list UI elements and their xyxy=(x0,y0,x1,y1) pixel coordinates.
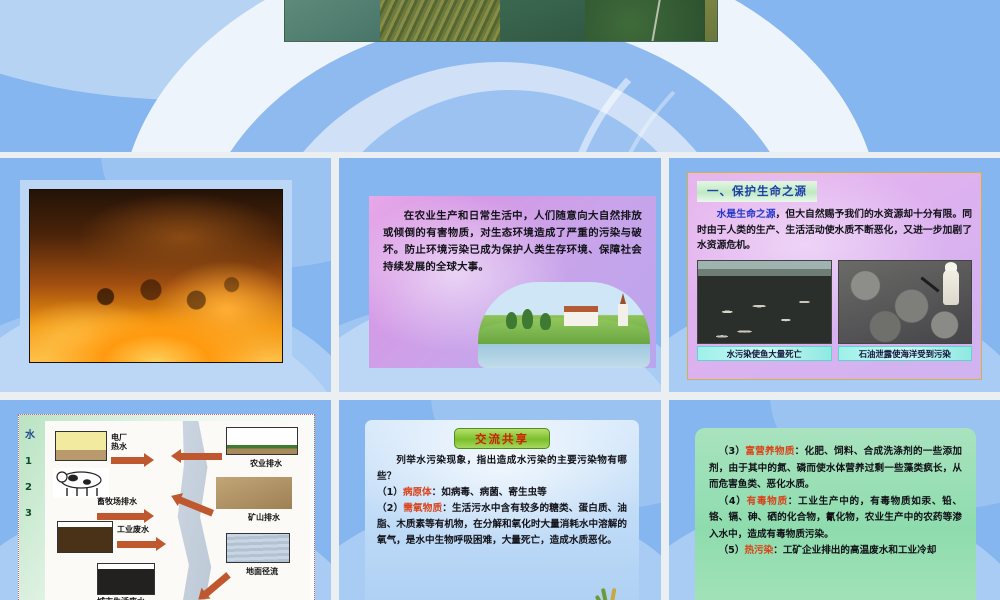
village-house xyxy=(564,306,598,326)
village-landscape-image xyxy=(478,282,650,368)
pollutant-item-5: （5）热污染：工矿企业排出的高温废水和工业冷却 xyxy=(709,543,962,560)
photo-caption: 水污染使鱼大量死亡 xyxy=(697,346,832,361)
hero-photo-field xyxy=(705,0,718,42)
arrow-industrial xyxy=(117,541,157,548)
share-item-1-keyword: 病原体 xyxy=(403,487,432,498)
village-water xyxy=(478,344,650,368)
slide-grid: 在农业生产和日常生活中，人们随意向大自然排放或倾倒的有害物质，对生态环境造成了严… xyxy=(0,158,1000,600)
slide-protect-water-source[interactable]: 一、保护生命之源 水是生命之源，但大自然赐予我们的水资源却十分有限。同时由于人类… xyxy=(669,158,1000,392)
shovel-icon xyxy=(920,277,939,293)
share-item-2-no: （2） xyxy=(377,503,403,514)
river-shape xyxy=(162,421,224,600)
arrow-agriculture xyxy=(180,453,222,460)
village-tree xyxy=(540,313,551,330)
section-title: 一、保护生命之源 xyxy=(697,181,817,202)
photo-caption: 石油泄露使海洋受到污染 xyxy=(838,346,973,361)
cleanup-worker xyxy=(943,269,959,305)
intro-paragraph: 在农业生产和日常生活中，人们随意向大自然排放或倾倒的有害物质，对生态环境造成了严… xyxy=(383,208,642,275)
hero-aerial-photo xyxy=(284,0,718,42)
fire-photo-frame xyxy=(20,180,292,372)
share-item-1-text: ：如病毒、病菌、寄生虫等 xyxy=(432,487,547,498)
pollutant-5-keyword: 热污染 xyxy=(744,545,773,556)
diagram-hidden-column: 水 1 2 3 xyxy=(25,423,43,527)
share-question: 列举水污染现象，指出造成水污染的主要污染物有哪些？ xyxy=(377,453,627,485)
water-source-highlight: 水是生命之源 xyxy=(717,209,776,220)
hero-photo-vegetation xyxy=(380,0,500,42)
share-card: 交流共享 列举水污染现象，指出造成水污染的主要污染物有哪些？ （1）病原体：如病… xyxy=(365,420,639,600)
hidden-col-0: 水 xyxy=(25,423,43,449)
share-body: 列举水污染现象，指出造成水污染的主要污染物有哪些？ （1）病原体：如病毒、病菌、… xyxy=(377,453,627,549)
pollutants-body: （3）富营养物质：化肥、饲料、合成洗涤剂的一些添加剂，由于其中的氮、磷而使水体营… xyxy=(709,444,962,560)
pollutants-green-card: （3）富营养物质：化肥、饲料、合成洗涤剂的一些添加剂，由于其中的氮、磷而使水体营… xyxy=(695,428,976,600)
hidden-col-1: 1 xyxy=(25,449,43,475)
farmland-icon xyxy=(226,427,298,455)
hero-slide[interactable] xyxy=(0,0,1000,152)
water-source-card: 一、保护生命之源 水是生命之源，但大自然赐予我们的水资源却十分有限。同时由于人类… xyxy=(687,172,982,380)
village-tree xyxy=(506,312,517,329)
diagram-label-agriculture: 农业排水 xyxy=(250,459,300,468)
plant-stem xyxy=(601,588,609,600)
cow-icon xyxy=(53,468,109,498)
arrow-power-plant xyxy=(111,457,145,464)
pollutant-5-no: （5） xyxy=(719,545,745,556)
pollutant-5-text: ：工矿企业排出的高温废水和工业冷却 xyxy=(773,545,936,556)
dead-fish-photo xyxy=(697,260,832,344)
photo-block: 水污染使鱼大量死亡 xyxy=(697,260,832,361)
water-pollution-diagram: 电厂热水 畜牧场排水 工业废水 xyxy=(45,421,310,600)
mine-icon xyxy=(216,477,292,509)
diagram-label-livestock: 畜牧场排水 xyxy=(97,497,155,506)
diagram-label-industrial: 工业废水 xyxy=(117,525,167,534)
water-source-photo-row: 水污染使鱼大量死亡 石油泄露使海洋受到污染 xyxy=(697,260,972,361)
oil-spill-photo xyxy=(838,260,973,344)
pollutant-4-keyword: 有毒物质 xyxy=(747,496,788,507)
water-source-body: 水是生命之源，但大自然赐予我们的水资源却十分有限。同时由于人类的生产、生活活动使… xyxy=(697,207,972,254)
plant-stem xyxy=(609,588,616,600)
pollutant-4-no: （4） xyxy=(719,496,747,507)
factory-icon xyxy=(57,521,113,553)
livestock-icon xyxy=(53,468,109,498)
pollutant-3-no: （3） xyxy=(719,446,746,457)
pollutant-item-3: （3）富营养物质：化肥、饲料、合成洗涤剂的一些添加剂，由于其中的氮、磷而使水体营… xyxy=(709,444,962,494)
power-plant-icon xyxy=(55,431,107,461)
diagram-label-mine: 矿山排水 xyxy=(248,513,298,522)
slide-intro-text[interactable]: 在农业生产和日常生活中，人们随意向大自然排放或倾倒的有害物质，对生态环境造成了严… xyxy=(339,158,661,392)
share-item-1-no: （1） xyxy=(377,487,403,498)
slide-share-discussion[interactable]: 交流共享 列举水污染现象，指出造成水污染的主要污染物有哪些？ （1）病原体：如病… xyxy=(339,400,661,600)
village-tree xyxy=(522,309,533,329)
pollutant-item-4: （4）有毒物质：工业生产中的，有毒物质如汞、铅、铬、镉、砷、硒的化合物，氰化物，… xyxy=(709,494,962,544)
fire-image xyxy=(29,189,283,363)
arrow-livestock xyxy=(97,513,145,520)
pollutant-3-keyword: 富营养物质 xyxy=(745,446,794,457)
share-item-2-keyword: 需氧物质 xyxy=(403,503,442,514)
surface-runoff-icon xyxy=(226,533,290,563)
photo-block: 石油泄露使海洋受到污染 xyxy=(838,260,973,361)
village-church xyxy=(618,304,628,326)
diagram-label-runoff: 地面径流 xyxy=(246,567,296,576)
hidden-col-3: 3 xyxy=(25,501,43,527)
diagram-label-power-plant: 电厂热水 xyxy=(111,433,133,451)
slide-pollutant-types[interactable]: （3）富营养物质：化肥、饲料、合成洗涤剂的一些添加剂，由于其中的氮、磷而使水体营… xyxy=(669,400,1000,600)
city-icon xyxy=(97,563,155,595)
diagram-outer-frame: 水 1 2 3 电厂热水 xyxy=(18,414,315,600)
hidden-col-2: 2 xyxy=(25,475,43,501)
plant-decoration-icon xyxy=(597,582,619,600)
share-title-badge: 交流共享 xyxy=(454,428,550,449)
intro-purple-card: 在农业生产和日常生活中，人们随意向大自然排放或倾倒的有害物质，对生态环境造成了严… xyxy=(369,196,656,368)
slide-pollution-sources-diagram[interactable]: 水 1 2 3 电厂热水 xyxy=(0,400,331,600)
presentation-thumbnail-page: 在农业生产和日常生活中，人们随意向大自然排放或倾倒的有害物质，对生态环境造成了严… xyxy=(0,0,1000,600)
slide-fire-photo[interactable] xyxy=(0,158,331,392)
